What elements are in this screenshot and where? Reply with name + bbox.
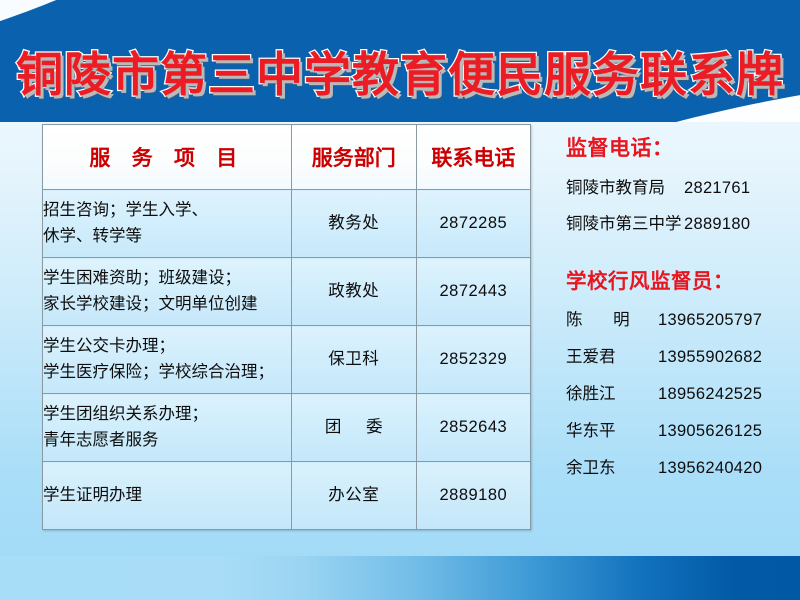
- table-row: 招生咨询；学生入学、 休学、转学等 教务处 2872285: [43, 190, 531, 258]
- service-line-1: 学生公交卡办理；: [43, 334, 291, 360]
- column-header-department: 服务部门: [291, 125, 416, 190]
- cell-service: 学生困难资助；班级建设； 家长学校建设；文明单位创建: [43, 258, 292, 326]
- monitor-entry: 王爱君 13955902682: [566, 343, 796, 367]
- monitor-entry: 华东平 13905626125: [566, 417, 796, 441]
- cell-phone: 2872443: [416, 258, 530, 326]
- service-line-1: 招生咨询；学生入学、: [43, 198, 291, 224]
- monitor-entry-phone: 13956240420: [658, 459, 762, 478]
- cell-service: 学生公交卡办理； 学生医疗保险；学校综合治理；: [43, 326, 292, 394]
- service-line-2: 家长学校建设；文明单位创建: [43, 292, 291, 318]
- monitor-entry-name: 陈 明: [566, 306, 658, 330]
- table-row: 学生公交卡办理； 学生医疗保险；学校综合治理； 保卫科 2852329: [43, 326, 531, 394]
- monitor-entry-name: 华东平: [566, 417, 658, 441]
- monitor-entry-phone: 13965205797: [658, 311, 762, 330]
- supervision-entry: 铜陵市第三中学 2889180: [566, 210, 796, 234]
- cell-department: 教务处: [291, 190, 416, 258]
- monitor-entry-name: 余卫东: [566, 454, 658, 478]
- supervision-entry-name: 铜陵市第三中学: [566, 210, 684, 234]
- cell-phone: 2852329: [416, 326, 530, 394]
- column-header-phone: 联系电话: [416, 125, 530, 190]
- poster-root: 铜陵市第三中学教育便民服务联系牌 服 务 项 目 服务部门 联系电话 招生咨询；…: [0, 0, 800, 600]
- monitor-entry: 徐胜江 18956242525: [566, 380, 796, 404]
- monitor-entry-phone: 13955902682: [658, 348, 762, 367]
- cell-department: 保卫科: [291, 326, 416, 394]
- supervision-entry-phone: 2821761: [684, 179, 750, 198]
- cell-department: 政教处: [291, 258, 416, 326]
- monitor-entry-name: 王爱君: [566, 343, 658, 367]
- monitor-entry-name: 徐胜江: [566, 380, 658, 404]
- monitor-entry-phone: 18956242525: [658, 385, 762, 404]
- supervision-entry-phone: 2889180: [684, 215, 750, 234]
- cell-phone: 2889180: [416, 462, 530, 530]
- cell-service: 招生咨询；学生入学、 休学、转学等: [43, 190, 292, 258]
- table-body: 招生咨询；学生入学、 休学、转学等 教务处 2872285 学生困难资助；班级建…: [43, 190, 531, 530]
- table-header-row: 服 务 项 目 服务部门 联系电话: [43, 125, 531, 190]
- service-line-1: 学生困难资助；班级建设；: [43, 266, 291, 292]
- table-row: 学生困难资助；班级建设； 家长学校建设；文明单位创建 政教处 2872443: [43, 258, 531, 326]
- supervision-entry-name: 铜陵市教育局: [566, 174, 684, 198]
- cell-phone: 2872285: [416, 190, 530, 258]
- service-line-2: 休学、转学等: [43, 224, 291, 250]
- monitor-entry: 陈 明 13965205797: [566, 306, 796, 330]
- column-header-service: 服 务 项 目: [43, 125, 292, 190]
- cell-department: 办公室: [291, 462, 416, 530]
- service-line-2: 学生医疗保险；学校综合治理；: [43, 360, 291, 386]
- bottom-gradient-band: [0, 556, 800, 600]
- service-line-1: 学生证明办理: [43, 483, 291, 509]
- cell-service: 学生证明办理: [43, 462, 292, 530]
- monitor-entry-phone: 13905626125: [658, 422, 762, 441]
- cell-service: 学生团组织关系办理； 青年志愿者服务: [43, 394, 292, 462]
- service-line-1: 学生团组织关系办理；: [43, 402, 291, 428]
- monitors-heading: 学校行风监督员：: [566, 264, 796, 294]
- supervision-heading: 监督电话：: [566, 132, 796, 162]
- service-contact-table: 服 务 项 目 服务部门 联系电话 招生咨询；学生入学、 休学、转学等 教务处 …: [42, 124, 531, 530]
- service-line-2: 青年志愿者服务: [43, 428, 291, 454]
- poster-title: 铜陵市第三中学教育便民服务联系牌: [0, 36, 800, 105]
- cell-department: 团 委: [291, 394, 416, 462]
- table-header: 服 务 项 目 服务部门 联系电话: [43, 125, 531, 190]
- monitor-entry: 余卫东 13956240420: [566, 454, 796, 478]
- supervision-entry: 铜陵市教育局 2821761: [566, 174, 796, 198]
- table-row: 学生证明办理 办公室 2889180: [43, 462, 531, 530]
- cell-phone: 2852643: [416, 394, 530, 462]
- side-info-panel: 监督电话： 铜陵市教育局 2821761 铜陵市第三中学 2889180 学校行…: [552, 132, 796, 491]
- table-row: 学生团组织关系办理； 青年志愿者服务 团 委 2852643: [43, 394, 531, 462]
